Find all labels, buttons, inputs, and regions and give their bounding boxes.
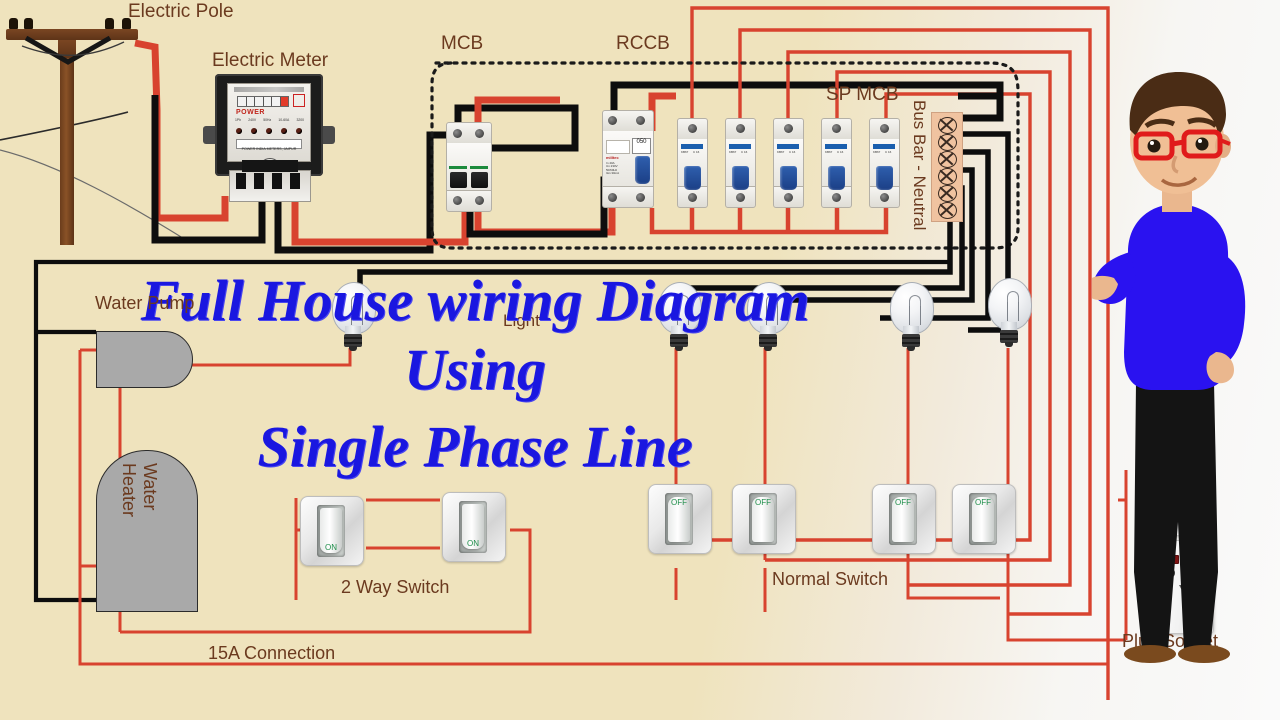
bulb-1-tip [349,346,357,351]
sp-mcb-2-brand-bar [729,144,751,149]
bus-bar-terminal-3 [938,151,957,168]
label-water-heater: Water Heater [118,463,160,517]
water-pump [96,331,193,388]
normal-switch-3-state: OFF [892,498,914,507]
rccb-brand: milltec [606,155,619,160]
mcb-toggle-2[interactable] [471,172,488,188]
mcb-terminal-screw-4 [475,196,484,205]
rccb[interactable]: milltec In 40AUn 230V50/60HzIΔn 30mA 050 [602,110,654,208]
sp-mcb-4-screw-top [832,124,841,133]
bulb-1-filament [351,301,363,325]
bulb-5-filament [1007,297,1019,321]
bus-bar-terminal-6 [938,202,957,219]
sp-mcb-3-screw-bottom [784,193,793,202]
sp-mcb-3-model: KB67 [777,151,784,154]
pole-insulator-2 [24,18,33,29]
meter-header-strip [234,87,304,92]
normal-switch-1-state: OFF [668,498,690,507]
two-way-switch-2[interactable]: ON [442,492,506,562]
sp-mcb-5-screw-top [880,124,889,133]
meter-register [237,96,289,107]
bulb-2-tip [675,346,683,351]
sp-mcb-2-model: KB67 [729,151,736,154]
two-way-switch-1-state: ON [320,543,342,552]
bulb-4-filament [909,301,921,325]
bus-bar-terminal-4 [938,168,957,185]
sp-mcb-4-model: KB67 [825,151,832,154]
bulb-4-tip [907,346,915,351]
meter-class-mark [293,94,305,107]
rccb-toggle[interactable] [635,156,650,184]
sp-mcb-5-screw-bottom [880,193,889,202]
normal-switch-2[interactable]: OFF [732,484,796,554]
normal-switch-3[interactable]: OFF [872,484,936,554]
sp-mcb-4[interactable]: KB67 C 16 [821,118,852,208]
technician-character [1092,52,1272,672]
sp-mcb-5-brand-bar [873,144,895,149]
label-light: Light [503,312,540,329]
character-eye-right [1196,138,1209,151]
label-normal-switch: Normal Switch [772,570,888,588]
light-bulb-3 [745,282,791,354]
character-eye-right-glint [1198,139,1202,143]
label-sp-mcb: SP MCB [826,85,899,104]
sp-mcb-3-screw-top [784,124,793,133]
label-two-way-switch: 2 Way Switch [341,578,449,596]
meter-footer: POWER INDIA METERS, JAIPUR [234,147,304,151]
sp-mcb-1-curve: C 16 [693,151,699,154]
bus-bar-terminal-2 [938,134,957,151]
bus-bar-terminal-5 [938,185,957,202]
rccb-rating-window: 050 [632,138,651,154]
normal-switch-2-state: OFF [752,498,774,507]
rccb-spec-text: In 40AUn 230V50/60HzIΔn 30mA [606,162,628,176]
pole-mast [60,55,74,245]
normal-switch-4[interactable]: OFF [952,484,1016,554]
mcb-2pole[interactable] [446,122,492,212]
sp-mcb-2-curve: C 16 [741,151,747,154]
light-bulb-1 [330,282,376,354]
label-mcb: MCB [441,34,483,53]
light-bulb-4 [888,282,934,354]
meter-lug-strip [242,160,298,172]
electric-meter: POWER 1Ph240V50Hz10-60A3200 POWER INDIA … [215,74,323,202]
bulb-2-filament [677,301,689,325]
normal-switch-4-state: OFF [972,498,994,507]
label-electric-meter: Electric Meter [212,51,328,70]
rccb-terminal-screw-3 [608,193,617,202]
character-shoe-right [1178,645,1230,663]
pole-insulator-3 [105,18,114,29]
wiring-diagram-canvas: Electric Pole Electric Meter POWER 1Ph24… [0,0,1280,720]
sp-mcb-5-curve: C 16 [885,151,891,154]
mcb-toggle-1[interactable] [450,172,467,188]
label-rccb: RCCB [616,34,670,53]
bulb-5-tip [1005,342,1013,347]
sp-mcb-3-toggle[interactable] [780,166,797,190]
sp-mcb-1-brand-bar [681,144,703,149]
sp-mcb-2-toggle[interactable] [732,166,749,190]
pole-insulator-1 [9,18,18,29]
meter-ratings: 1Ph240V50Hz10-60A3200 [235,118,304,123]
sp-mcb-3-brand-bar [777,144,799,149]
sp-mcb-4-brand-bar [825,144,847,149]
rccb-test-window [606,140,630,154]
normal-switch-1[interactable]: OFF [648,484,712,554]
rccb-terminal-screw-4 [636,193,645,202]
sp-mcb-1-model: KB67 [681,151,688,154]
sp-mcb-2-screw-top [736,124,745,133]
character-eye-left-glint [1150,141,1154,145]
label-electric-pole: Electric Pole [128,2,234,21]
light-bulb-2 [656,282,702,354]
meter-indicator-row [236,126,302,135]
sp-mcb-5-model: KB67 [873,151,880,154]
sp-mcb-2-screw-bottom [736,193,745,202]
mcb-terminal-screw-2 [475,129,484,138]
character-trousers [1134,382,1218,650]
sp-mcb-5-toggle[interactable] [876,166,893,190]
sp-mcb-1-screw-bottom [688,193,697,202]
pole-brace [20,36,130,66]
mcb-brand-stripe-2 [470,166,488,169]
bulb-3-filament [766,301,778,325]
meter-terminal-block [229,170,311,202]
bus-bar-neutral [931,112,963,222]
label-bus-bar: Bus Bar - Neutral [911,100,928,230]
label-water-pump: Water Pump [95,294,194,312]
two-way-switch-2-state: ON [462,539,484,548]
sp-mcb-5[interactable]: KB67 C 16 [869,118,900,208]
bulb-3-tip [764,346,772,351]
sp-mcb-3[interactable]: KB67 C 16 [773,118,804,208]
mcb-terminal-screw-3 [453,196,462,205]
sp-mcb-2[interactable]: KB67 C 16 [725,118,756,208]
sp-mcb-4-screw-bottom [832,193,841,202]
meter-faceplate: POWER 1Ph240V50Hz10-60A3200 POWER INDIA … [227,83,311,162]
mcb-terminal-screw-1 [453,129,462,138]
glasses-bridge [1172,142,1184,144]
sp-mcb-1-screw-top [688,124,697,133]
sp-mcb-4-curve: C 16 [837,151,843,154]
meter-brand: POWER [236,109,265,116]
character-eye-left [1148,140,1161,153]
sp-mcb-1-toggle[interactable] [684,166,701,190]
sp-mcb-1[interactable]: KB67 C 16 [677,118,708,208]
mcb-brand-stripe-1 [449,166,467,169]
rccb-terminal-screw-1 [608,116,617,125]
rccb-terminal-screw-2 [636,116,645,125]
bus-bar-terminal-1 [938,117,957,134]
character-shoe-left [1124,645,1176,663]
light-bulb-5 [986,278,1032,350]
label-15a-connection: 15A Connection [208,644,335,662]
water-heater: Water Heater [96,450,198,612]
sp-mcb-3-curve: C 16 [789,151,795,154]
two-way-switch-1[interactable]: ON [300,496,364,566]
sp-mcb-4-toggle[interactable] [828,166,845,190]
